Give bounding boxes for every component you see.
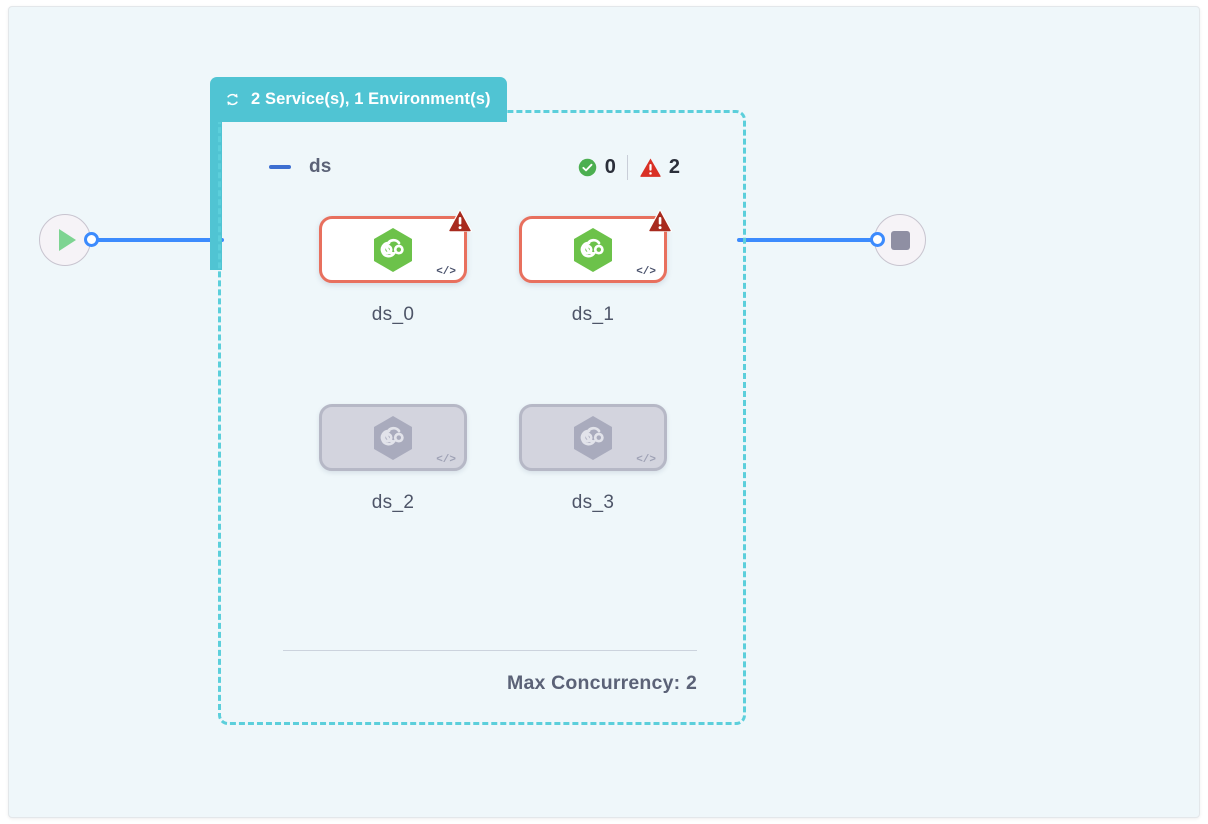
code-brackets-icon: </> <box>436 266 456 278</box>
warning-triangle-icon[interactable] <box>445 205 475 235</box>
end-node-input-handle[interactable] <box>870 232 885 247</box>
node-label: ds_1 <box>572 304 614 326</box>
node-cell: </> ds_3 <box>493 404 693 514</box>
code-brackets-icon: </> <box>636 266 656 278</box>
service-status-counts: 0 2 <box>577 155 680 180</box>
error-count-value: 2 <box>669 156 680 179</box>
group-body: ds 0 2 <box>221 113 743 722</box>
nodejs-hexagon-icon <box>572 415 614 461</box>
node-cell: </> ds_1 <box>493 216 693 326</box>
service-node-card[interactable]: </> <box>519 216 667 283</box>
play-icon <box>59 229 76 251</box>
check-circle-icon <box>577 157 598 178</box>
start-node-output-handle[interactable] <box>84 232 99 247</box>
flow-canvas[interactable]: 2 Service(s), 1 Environment(s) ds 0 <box>8 6 1200 818</box>
edge-start-to-group[interactable] <box>84 238 224 242</box>
node-label: ds_3 <box>572 492 614 514</box>
footer-divider <box>283 650 697 651</box>
group-tab-label: 2 Service(s), 1 Environment(s) <box>251 90 491 109</box>
nodejs-hexagon-icon <box>372 415 414 461</box>
status-count-divider <box>627 155 628 180</box>
node-cell: </> ds_2 <box>293 404 493 514</box>
warning-triangle-icon <box>639 156 662 179</box>
status-count-success[interactable]: 0 <box>577 156 616 179</box>
collapse-toggle-button[interactable] <box>269 165 295 169</box>
service-node-card[interactable]: </> <box>319 216 467 283</box>
node-cell: </> ds_0 <box>293 216 493 326</box>
edge-group-to-end[interactable] <box>737 238 877 242</box>
warning-triangle-icon[interactable] <box>645 205 675 235</box>
success-count-value: 0 <box>605 156 616 179</box>
minus-icon <box>269 165 291 169</box>
service-node-card[interactable]: </> <box>319 404 467 471</box>
code-brackets-icon: </> <box>436 454 456 466</box>
nodejs-hexagon-icon <box>372 227 414 273</box>
code-brackets-icon: </> <box>636 454 656 466</box>
node-label: ds_2 <box>372 492 414 514</box>
service-title: ds <box>309 156 332 178</box>
status-count-error[interactable]: 2 <box>639 156 680 179</box>
stop-square-icon <box>891 231 910 250</box>
group-footer: Max Concurrency: 2 <box>283 650 697 695</box>
node-label: ds_0 <box>372 304 414 326</box>
max-concurrency-label: Max Concurrency: 2 <box>283 672 697 695</box>
loop-refresh-icon <box>223 90 242 109</box>
node-grid: </> ds_0 <box>293 216 693 514</box>
service-node-card[interactable]: </> <box>519 404 667 471</box>
nodejs-hexagon-icon <box>572 227 614 273</box>
service-header-row: ds 0 2 <box>269 151 715 183</box>
